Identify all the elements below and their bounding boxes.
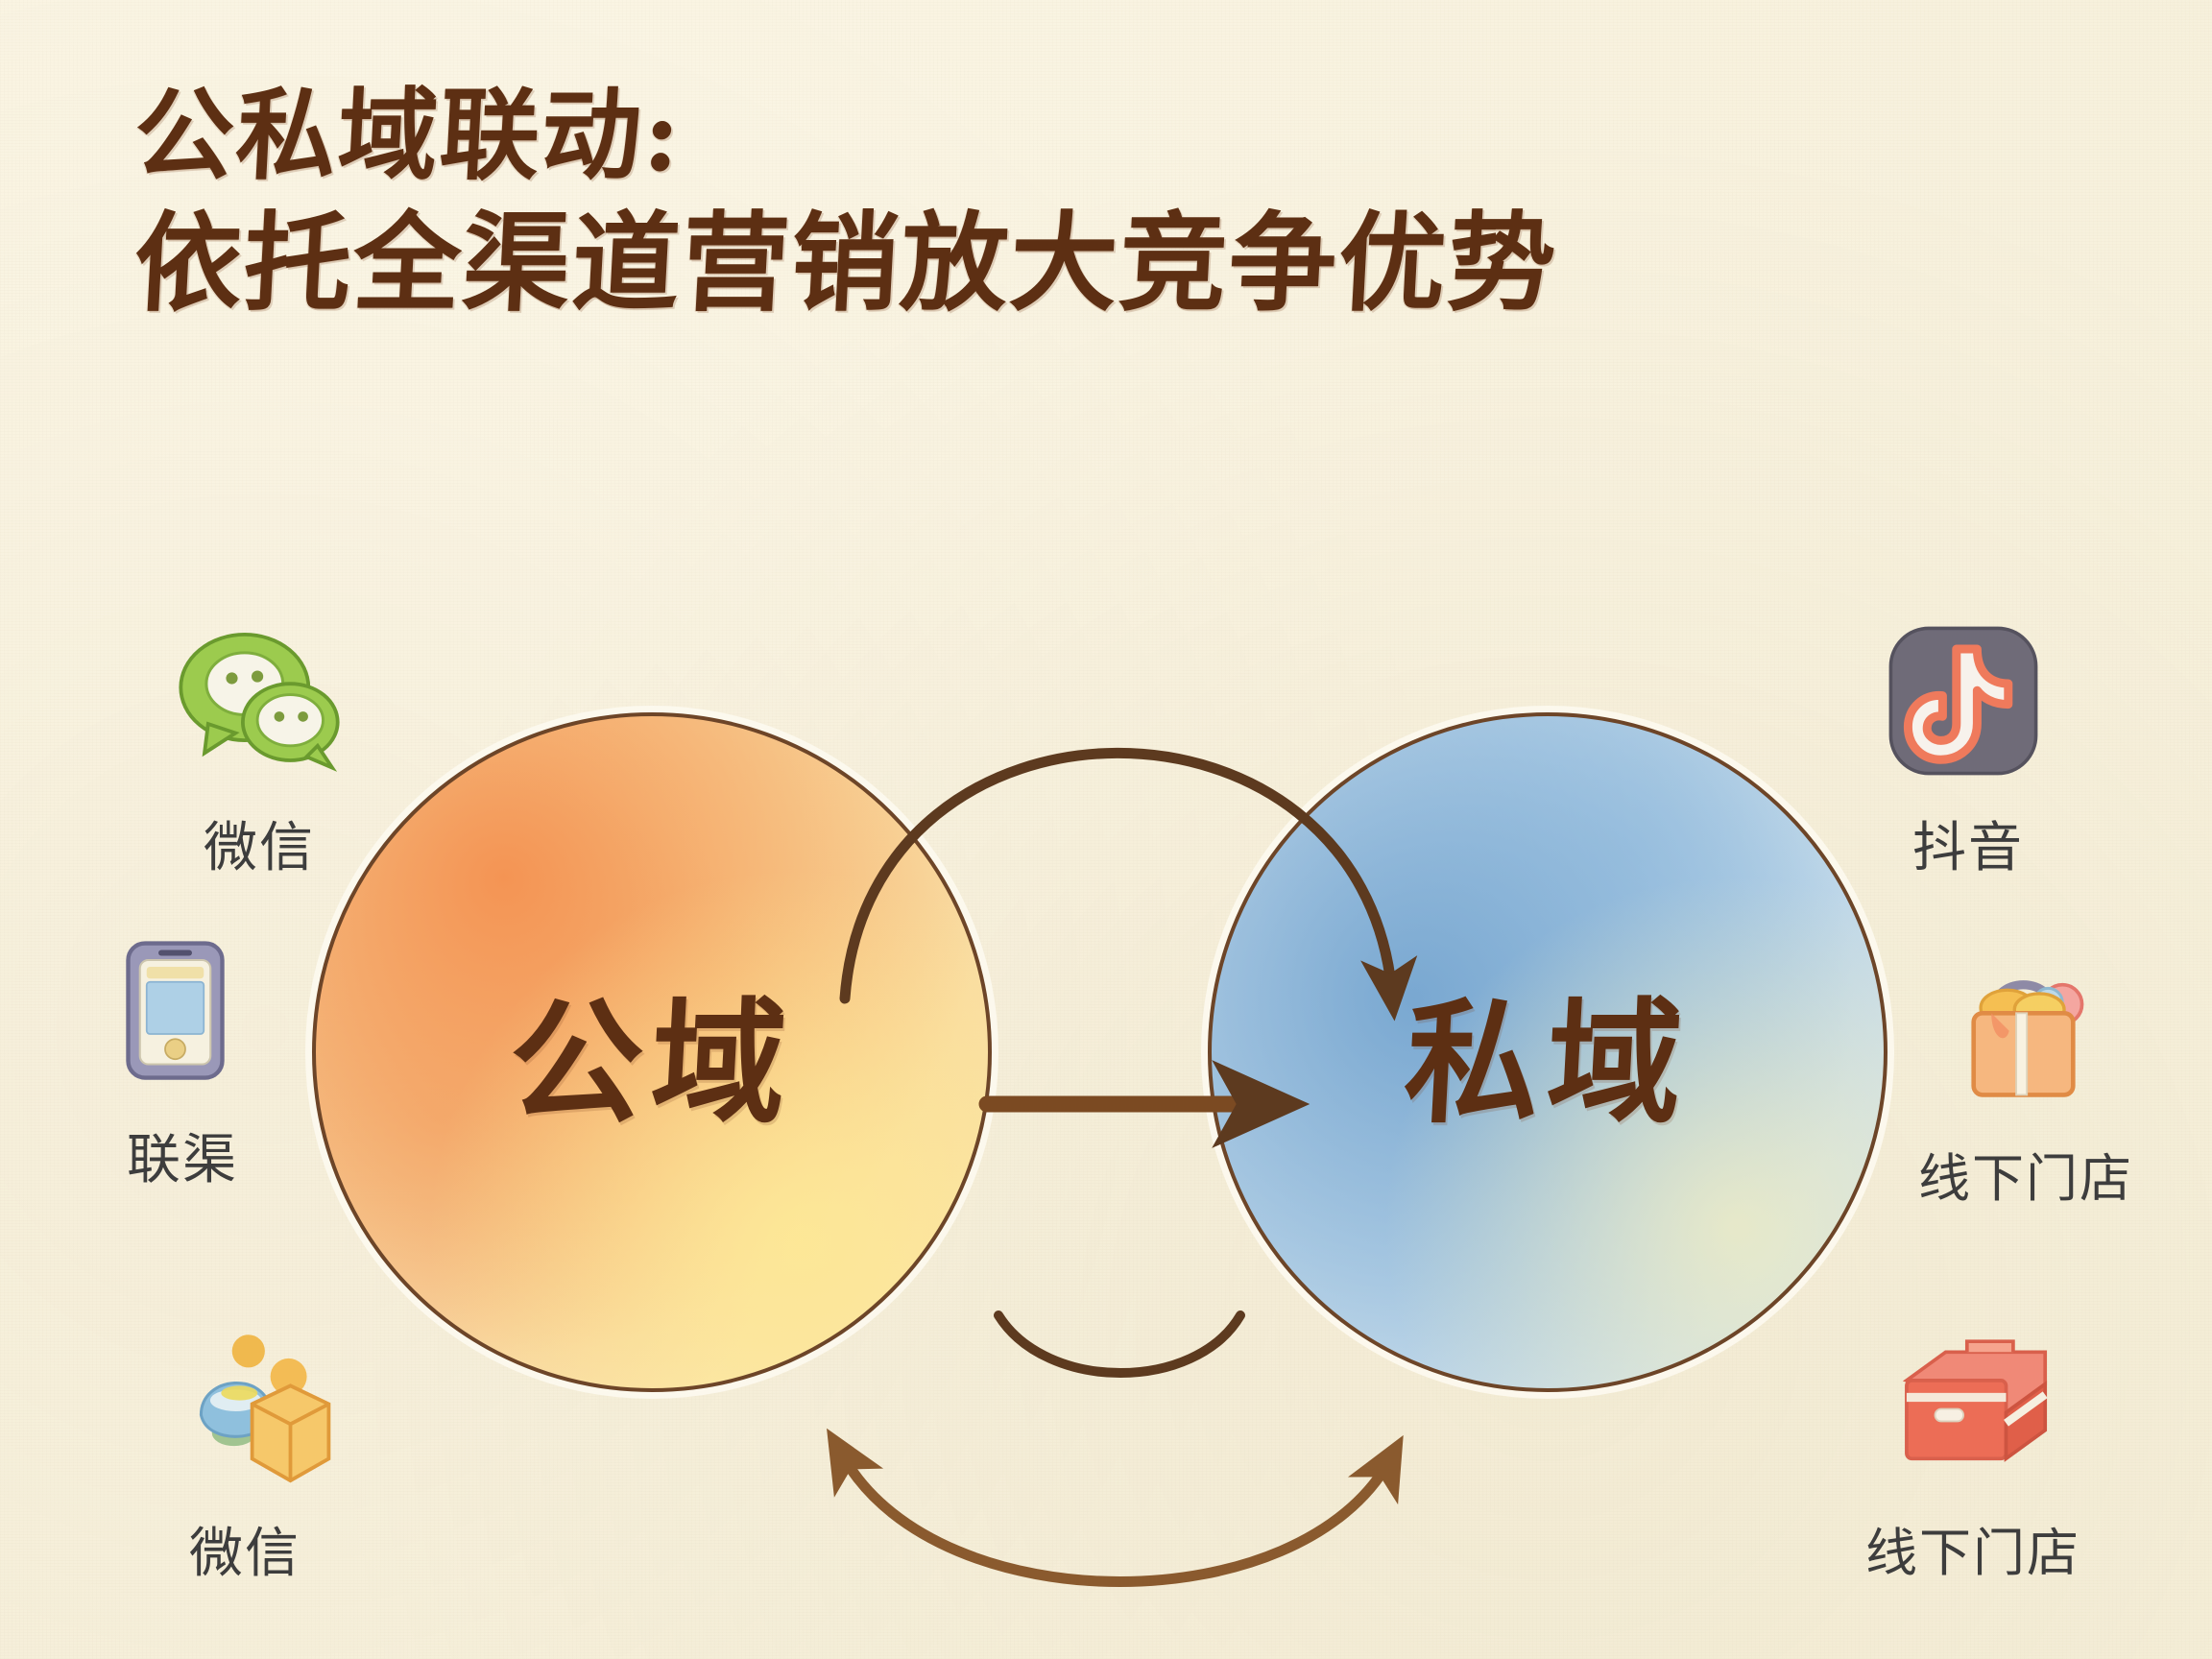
shopping-bag-icon	[1935, 946, 2117, 1128]
channel-item-wechat-work[interactable]: 微信	[106, 1320, 384, 1588]
wechat-work-icon	[154, 1320, 336, 1503]
page-title: 公私域联动: 依托全渠道营销放大竞争优势	[134, 77, 2016, 327]
private-domain-label: 私域	[1401, 955, 1695, 1149]
channel-label-wechat: 微信	[204, 805, 315, 882]
title-line-1: 公私域联动:	[132, 77, 2019, 195]
inner-lens-arc	[998, 1315, 1240, 1373]
infographic-canvas: 公私域联动: 依托全渠道营销放大竞争优势 公域 私域	[0, 0, 2212, 1659]
douyin-icon	[1877, 614, 2059, 797]
channel-label-lianqu: 联渠	[127, 1117, 238, 1194]
bottom-arc-arrow	[845, 1459, 1390, 1582]
channel-label-wechat-work: 微信	[189, 1510, 301, 1588]
channel-label-douyin: 抖音	[1912, 805, 2024, 882]
channel-item-offline-store-box[interactable]: 线下门店	[1834, 1320, 2112, 1586]
channel-item-lianqu[interactable]: 联渠	[43, 926, 322, 1194]
toolbox-icon	[1882, 1320, 2064, 1503]
channel-label-offline-store-bag: 线下门店	[1918, 1136, 2133, 1212]
public-domain-label: 公域	[505, 955, 800, 1149]
title-line-2: 依托全渠道营销放大竞争优势	[132, 201, 2020, 327]
private-domain-circle[interactable]: 私域	[1208, 712, 1887, 1392]
public-domain-circle[interactable]: 公域	[312, 712, 992, 1392]
smartphone-icon	[91, 926, 274, 1109]
channel-item-douyin[interactable]: 抖音	[1829, 614, 2107, 882]
wechat-icon	[168, 614, 350, 797]
channel-label-offline-store-box: 线下门店	[1865, 1510, 2080, 1586]
channel-item-offline-store-bag[interactable]: 线下门店	[1887, 946, 2165, 1212]
channel-item-wechat[interactable]: 微信	[120, 614, 398, 882]
